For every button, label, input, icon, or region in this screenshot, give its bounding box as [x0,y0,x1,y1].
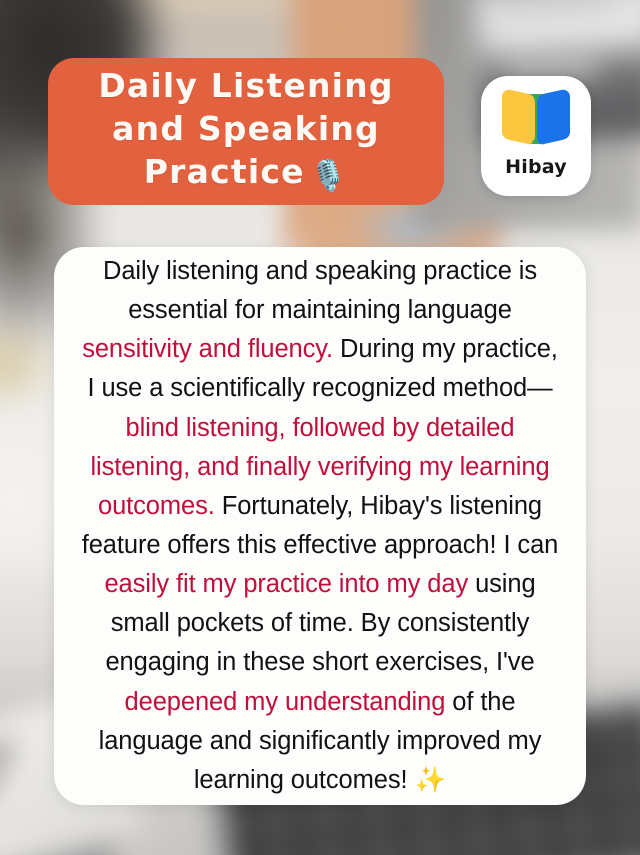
studio-microphone-icon: 🎙️ [310,159,349,194]
open-book-icon [498,87,574,151]
page-title: Daily Listening and Speaking Practice🎙️ [98,65,393,194]
hibay-app-label: Hibay [505,156,567,178]
poster-root: Daily Listening and Speaking Practice🎙️ … [0,0,640,855]
body-highlight-text: deepened my understanding [125,688,446,716]
hibay-app-icon[interactable]: Hibay [481,76,591,196]
body-highlight-text: sensitivity and fluency. [82,335,333,363]
body-plain-text: Daily listening and speaking practice is… [103,257,537,324]
body-card: Daily listening and speaking practice is… [54,247,586,805]
title-banner: Daily Listening and Speaking Practice🎙️ [48,58,444,205]
page-title-text: Daily Listening and Speaking Practice [98,66,393,191]
body-highlight-text: easily fit my practice into my day [104,570,468,598]
body-paragraph: Daily listening and speaking practice is… [80,252,560,800]
